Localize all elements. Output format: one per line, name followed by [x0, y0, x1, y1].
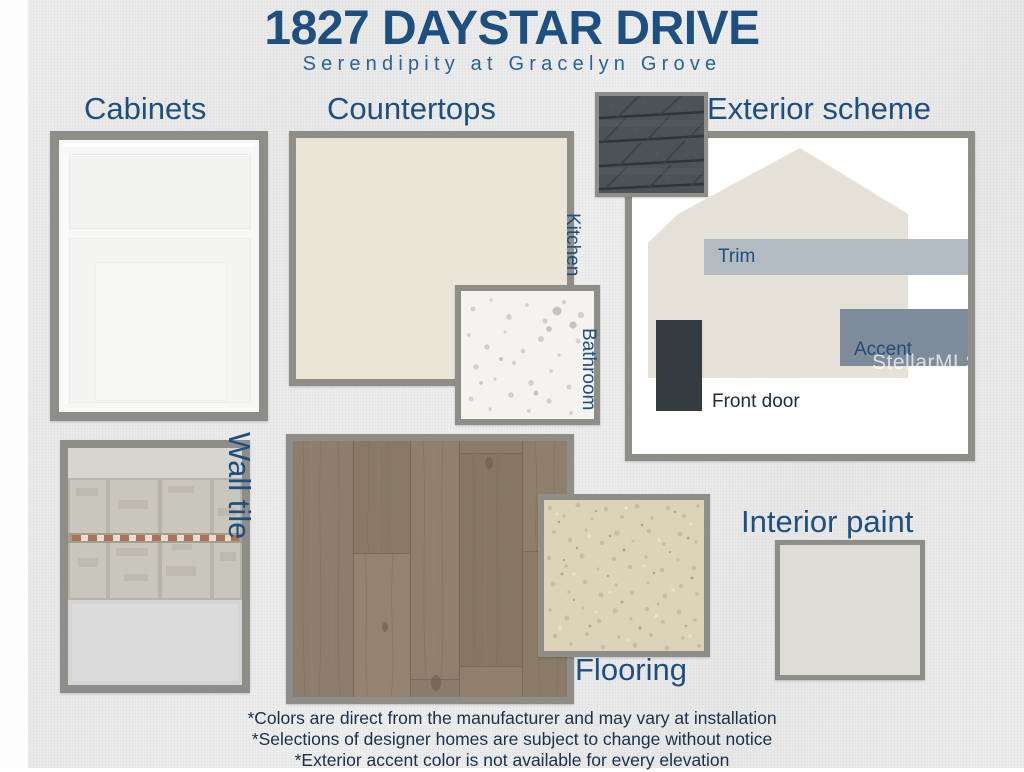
roof-shingle-swatch: [599, 96, 704, 193]
section-label-interior-paint: Interior paint: [741, 505, 913, 539]
cabinet-top-drawer-panel: [69, 154, 251, 229]
wood-flooring-frame: [286, 434, 574, 704]
carpet-texture: [544, 500, 704, 651]
section-label-cabinets: Cabinets: [84, 92, 206, 126]
left-edge-strip: [0, 0, 28, 768]
disclaimer-line-2: *Selections of designer homes are subjec…: [0, 729, 1024, 751]
cabinet-door-sample: [59, 140, 259, 412]
wall-tile-pattern: [68, 448, 242, 685]
exterior-trim-swatch: Trim: [704, 239, 968, 275]
roof-shingle-frame: [595, 92, 708, 197]
wood-plank-pattern: [293, 441, 567, 697]
wall-tile-swatch: [68, 448, 242, 685]
section-label-countertops: Countertops: [327, 92, 496, 126]
stellarmls-watermark: StellarMLS: [872, 351, 968, 375]
countertop-label-bathroom: Bathroom: [571, 328, 605, 410]
interior-paint-surface: [780, 545, 920, 675]
interior-paint-swatch: [780, 545, 920, 675]
shingle-texture: [599, 96, 704, 193]
exterior-trim-label: Trim: [704, 246, 755, 268]
section-label-exterior-scheme: Exterior scheme: [707, 92, 931, 126]
cabinet-lower-inset: [95, 262, 227, 401]
carpet-flooring-swatch: [544, 500, 704, 651]
community-subtitle: Serendipity at Gracelyn Grove: [0, 52, 1024, 76]
page-title: 1827 DAYSTAR DRIVE: [0, 2, 1024, 56]
cabinet-highlight: [63, 143, 255, 147]
exterior-front-door-swatch: [656, 320, 702, 411]
cabinets-swatch-frame: [50, 131, 268, 421]
carpet-flooring-frame: [538, 494, 710, 657]
section-label-wall-tile: Wall tile: [222, 432, 256, 539]
cabinet-lower-panel: [69, 238, 251, 403]
wood-flooring-swatch: [293, 441, 567, 697]
disclaimer-line-1: *Colors are direct from the manufacturer…: [0, 708, 1024, 730]
cabinet-side-edge: [63, 154, 68, 404]
exterior-front-door-label: Front door: [712, 391, 800, 413]
countertop-label-kitchen: Kitchen: [555, 213, 589, 276]
section-label-flooring: Flooring: [575, 653, 687, 687]
disclaimer-line-3: *Exterior accent color is not available …: [0, 750, 1024, 772]
interior-paint-frame: [775, 540, 925, 680]
